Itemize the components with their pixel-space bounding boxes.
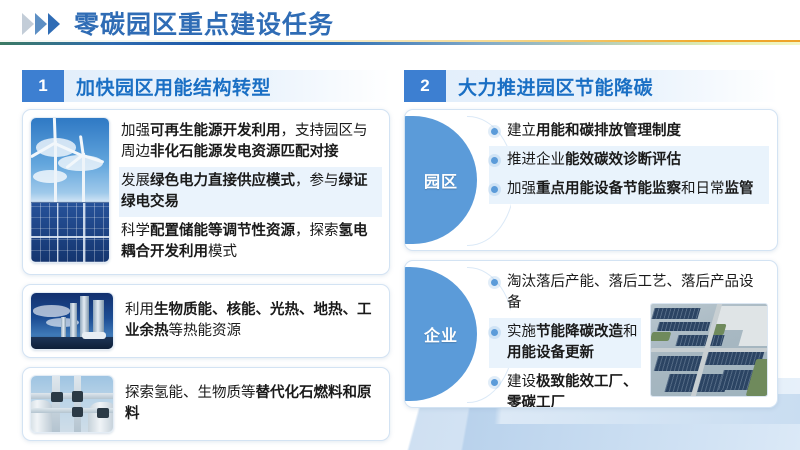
bullet-dot-icon (491, 279, 498, 286)
row-item: 利用生物质能、核能、光热、地热、工业余热等热能资源 (123, 296, 382, 346)
content-card-1-3[interactable]: 探索氢能、生物质等替代化石燃料和原料 (22, 367, 390, 441)
bullet-dot-icon (491, 329, 498, 336)
column-left: 1 加快园区用能结构转型 加强可再生能源开发利用，支持园区与周边非化石能源发电资… (22, 70, 390, 450)
section-header-1: 1 加快园区用能结构转型 (22, 70, 390, 102)
row-item: 科学配置储能等调节性资源，探索氢电耦合开发利用模式 (119, 217, 382, 267)
section-number-badge-1: 1 (22, 70, 64, 102)
content-card-1-1[interactable]: 加强可再生能源开发利用，支持园区与周边非化石能源发电资源匹配对接 发展绿色电力直… (22, 109, 390, 275)
bullet-dot-icon (491, 157, 498, 164)
header-rule-gradient (0, 42, 800, 45)
bullet-item: 实施节能降碳改造和用能设备更新 (489, 318, 641, 368)
section-title-2: 大力推进园区节能降碳 (458, 73, 653, 100)
page-header: 零碳园区重点建设任务 (0, 0, 800, 58)
bullet-dot-icon (491, 379, 498, 386)
wind-turbines-and-solar-panels-photo (30, 117, 110, 263)
section-number-badge-2: 2 (404, 70, 446, 102)
content-card-1-2[interactable]: 利用生物质能、核能、光热、地热、工业余热等热能资源 (22, 284, 390, 358)
bullet-dot-icon (491, 128, 498, 135)
card-1-1-rows: 加强可再生能源开发利用，支持园区与周边非化石能源发电资源匹配对接 发展绿色电力直… (110, 117, 382, 267)
industrial-pipes-photo (30, 375, 114, 433)
bullet-dot-icon (491, 186, 498, 193)
bullet-item: 加强重点用能设备节能监察和日常监管 (489, 175, 769, 204)
content-card-2-2[interactable]: 企业 淘汰落后产能、落后工艺、落后产品设备 实 (404, 260, 778, 408)
triple-chevron-right-icon (22, 13, 70, 37)
card-2-2-bullets: 淘汰落后产能、落后工艺、落后产品设备 实施节能降碳改造和用能设备更新 建设极致能… (489, 261, 649, 408)
row-item: 探索氢能、生物质等替代化石燃料和原料 (123, 379, 382, 429)
section-title-1: 加快园区用能结构转型 (76, 73, 271, 100)
section-header-2: 2 大力推进园区节能降碳 (404, 70, 778, 102)
card-1-2-rows: 利用生物质能、核能、光热、地热、工业余热等热能资源 (114, 292, 382, 350)
bullet-item: 建设极致能效工厂、零碳工厂 (489, 368, 641, 408)
card-1-3-rows: 探索氢能、生物质等替代化石燃料和原料 (114, 375, 382, 433)
row-item: 发展绿色电力直接供应模式，参与绿证绿电交易 (119, 167, 382, 217)
bullet-item: 推进企业能效碳效诊断评估 (489, 146, 769, 175)
bullet-item: 淘汰落后产能、落后工艺、落后产品设备 (489, 268, 763, 318)
bullet-item: 建立用能和碳排放管理制度 (489, 117, 769, 146)
card-2-1-bullets: 建立用能和碳排放管理制度 推进企业能效碳效诊断评估 加强重点用能设备节能监察和日… (489, 110, 777, 211)
content-card-2-1[interactable]: 园区 建立用能和碳排放管理制度 推进企业能效碳效诊断评估 加强重点用能设备节能监… (404, 109, 778, 251)
industrial-stacks-photo (30, 292, 114, 350)
page-title: 零碳园区重点建设任务 (74, 5, 334, 41)
column-right: 2 大力推进园区节能降碳 园区 建立用能和碳排放管理制度 推进企业能效碳效诊断评… (404, 70, 778, 417)
row-item: 加强可再生能源开发利用，支持园区与周边非化石能源发电资源匹配对接 (119, 117, 382, 167)
